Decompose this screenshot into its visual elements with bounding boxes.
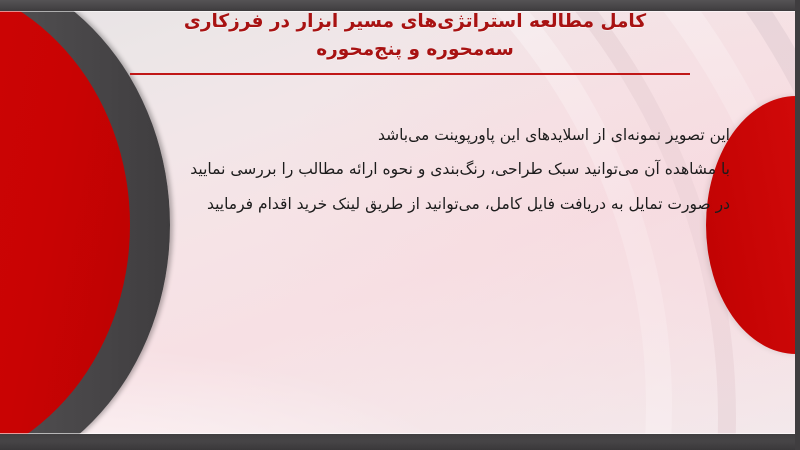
presentation-slide: کامل مطالعه استراتژی‌های مسیر ابزار در ف… — [0, 0, 800, 450]
slide-body-line-1: این تصویر نمونه‌ای از اسلایدهای این پاور… — [120, 118, 730, 152]
slide-body-line-3: در صورت تمایل به دریافت فایل کامل، می‌تو… — [120, 187, 730, 221]
bottom-frame-band — [0, 434, 800, 450]
title-divider-rule — [130, 73, 690, 75]
slide-body-text: این تصویر نمونه‌ای از اسلایدهای این پاور… — [120, 118, 730, 221]
slide-title-line-1: کامل مطالعه استراتژی‌های مسیر ابزار در ف… — [130, 8, 700, 36]
slide-title: کامل مطالعه استراتژی‌های مسیر ابزار در ف… — [130, 8, 700, 64]
bottom-hairline — [0, 433, 800, 434]
slide-title-line-2: سه‌محوره و پنج‌محوره — [130, 36, 700, 64]
right-frame-band — [795, 0, 800, 450]
slide-body-line-2: با مشاهده آن می‌توانید سبک طراحی، رنگ‌بن… — [120, 152, 730, 186]
